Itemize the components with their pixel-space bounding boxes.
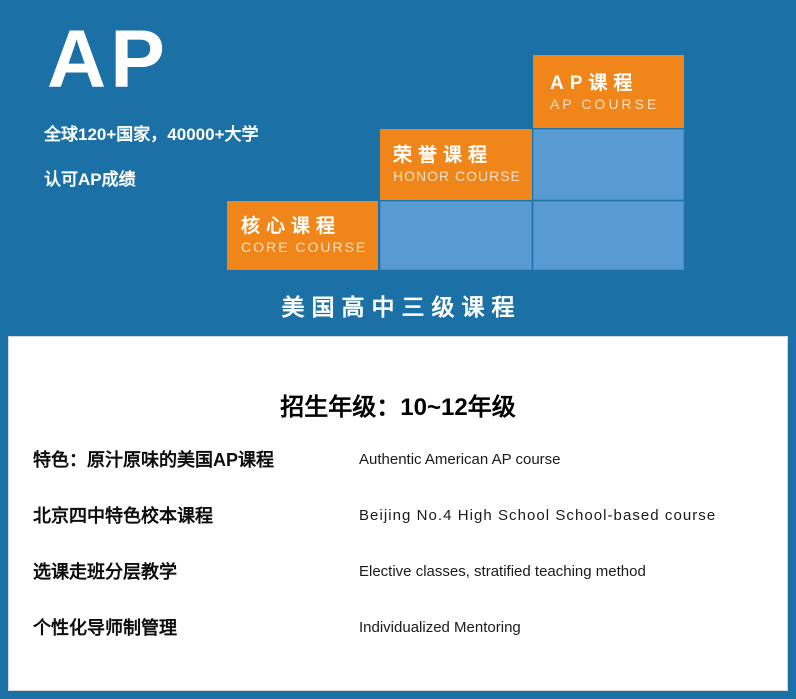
tile-filler-row3-col3 (533, 201, 684, 270)
tile-honor-course-label-cn: 荣誉课程 (393, 140, 493, 167)
hero-tagline: 全球120+国家，40000+大学 认可AP成绩 (44, 126, 374, 188)
feature-label-en: Beijing No.4 High School School-based co… (359, 505, 787, 527)
feature-label-cn: 个性化导师制管理 (9, 617, 359, 640)
tile-ap-course-label-cn: AP课程 (550, 68, 638, 95)
tile-ap-course: AP课程 AP COURSE (533, 55, 684, 128)
feature-label-cn: 特色：原汁原味的美国AP课程 (9, 449, 359, 472)
feature-label-cn: 北京四中特色校本课程 (9, 505, 359, 528)
feature-row: 特色：原汁原味的美国AP课程 Authentic American AP cou… (9, 449, 787, 505)
feature-label-cn: 选课走班分层教学 (9, 561, 359, 584)
feature-label-en: Elective classes, stratified teaching me… (359, 561, 787, 583)
tile-core-course-label-en: CORE COURSE (241, 239, 367, 255)
feature-list: 特色：原汁原味的美国AP课程 Authentic American AP cou… (9, 449, 787, 673)
tile-filler-row2-col2 (533, 129, 684, 200)
ap-logo: AP (47, 19, 169, 101)
feature-row: 个性化导师制管理 Individualized Mentoring (9, 617, 787, 673)
tile-ap-course-label-en: AP COURSE (550, 96, 659, 112)
tile-core-course-label-cn: 核心课程 (241, 211, 341, 238)
tile-core-course: 核心课程 CORE COURSE (227, 201, 378, 270)
feature-label-en: Authentic American AP course (359, 449, 787, 471)
hero-banner: AP 全球120+国家，40000+大学 认可AP成绩 AP课程 AP COUR… (0, 0, 796, 332)
ap-program-infographic: AP 全球120+国家，40000+大学 认可AP成绩 AP课程 AP COUR… (0, 0, 796, 699)
details-panel: 招生年级：10~12年级 特色：原汁原味的美国AP课程 Authentic Am… (8, 336, 788, 691)
tile-honor-course: 荣誉课程 HONOR COURSE (380, 129, 532, 200)
tagline-line-2: 认可AP成绩 (44, 171, 374, 188)
tile-honor-course-label-en: HONOR COURSE (393, 168, 521, 184)
tile-filler-row3-col2 (380, 201, 532, 270)
feature-label-en: Individualized Mentoring (359, 617, 787, 639)
hero-banner-caption: 美国高中三级课程 (0, 288, 796, 322)
tagline-line-1: 全球120+国家，40000+大学 (44, 125, 259, 144)
feature-row: 北京四中特色校本课程 Beijing No.4 High School Scho… (9, 505, 787, 561)
feature-row: 选课走班分层教学 Elective classes, stratified te… (9, 561, 787, 617)
panel-title: 招生年级：10~12年级 (9, 387, 787, 422)
